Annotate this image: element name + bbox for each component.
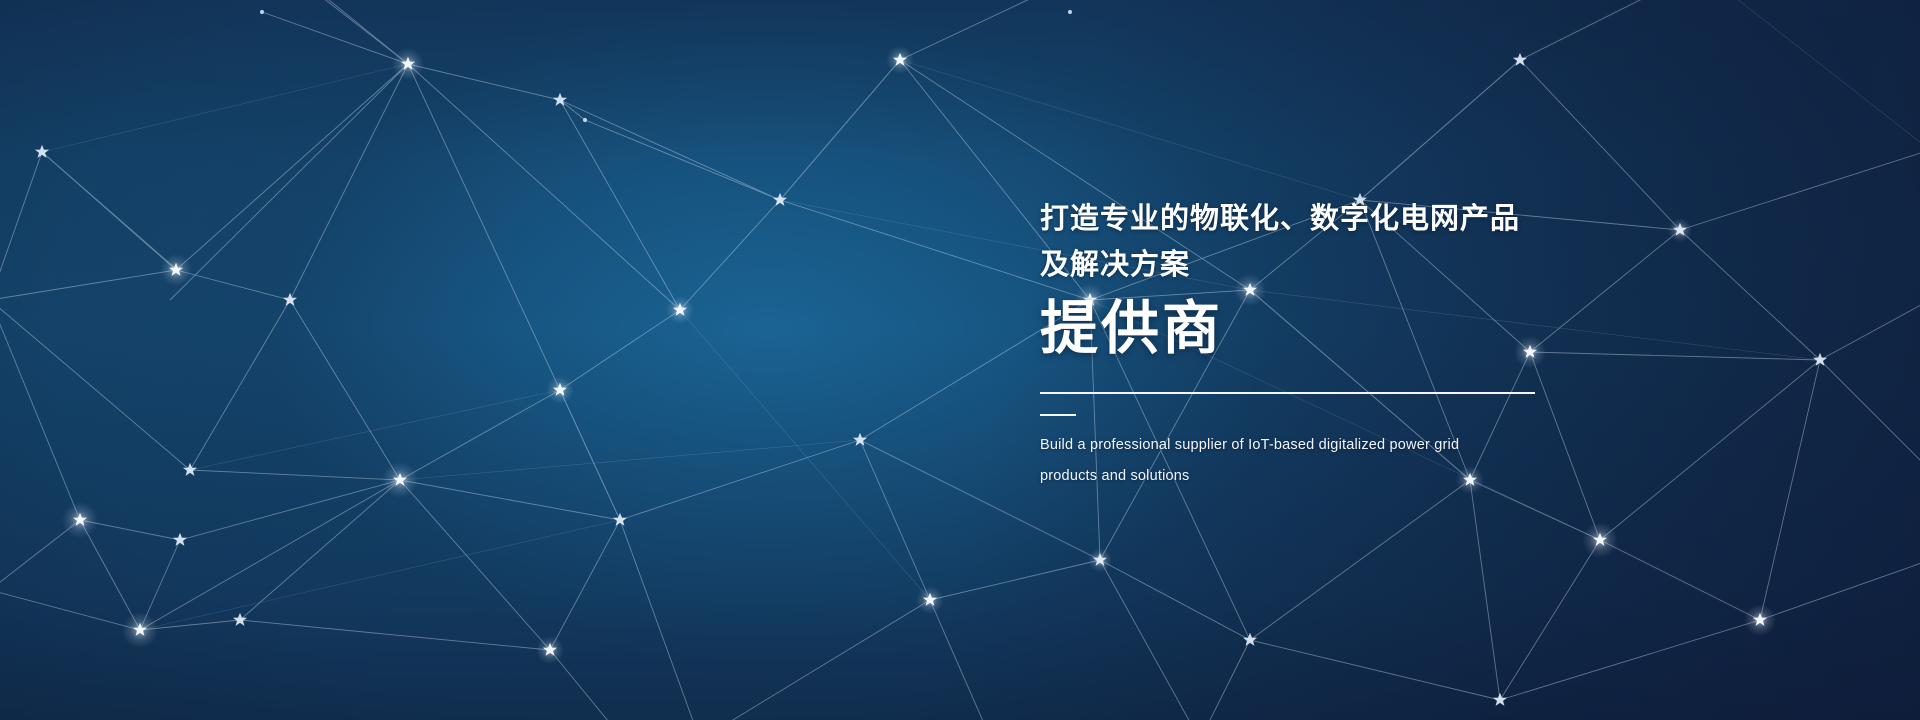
hero-emphasis-word: 提供商 [1040, 296, 1223, 362]
hero-headline-chinese: 打造专业的物联化、数字化电网产品 及解决方案 [1040, 196, 1580, 288]
divider-rule-accent [1040, 414, 1076, 416]
hero-copy-block: 打造专业的物联化、数字化电网产品 及解决方案 提供商 Build a profe… [1040, 0, 1740, 720]
divider-rule-long [1040, 392, 1535, 394]
hero-subtitle-english: Build a professional supplier of IoT-bas… [1040, 430, 1520, 492]
hero-banner: 打造专业的物联化、数字化电网产品 及解决方案 提供商 Build a profe… [0, 0, 1920, 720]
